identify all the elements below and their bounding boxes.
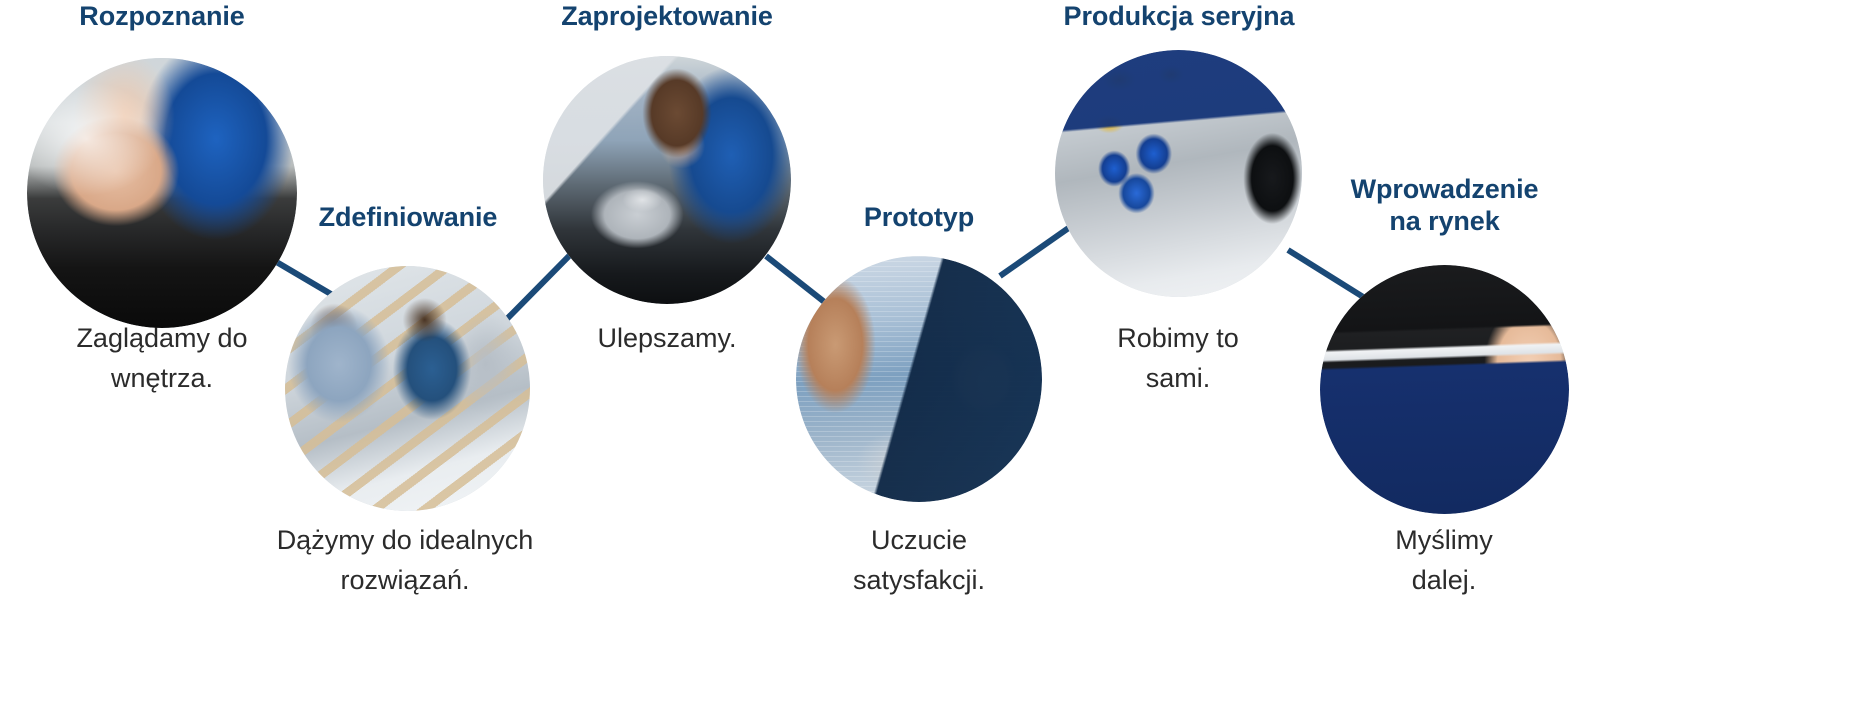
photo-team-discussing-plans [285, 266, 530, 511]
stage-caption-prototyp: Uczucie satysfakcji. [769, 520, 1069, 600]
stage-image-zdefiniowanie [285, 266, 530, 511]
stage-heading-prototyp: Prototyp [794, 201, 1044, 233]
photo-hand-applying-hd-sticker [1320, 265, 1569, 514]
photo-mechanic-inspecting-car [27, 58, 297, 328]
stage-heading-produkcja-seryjna: Produkcja seryjna [1034, 0, 1324, 32]
stage-heading-zdefiniowanie: Zdefiniowanie [283, 201, 533, 233]
photo-cad-model-monitor [796, 256, 1042, 502]
stage-image-produkcja-seryjna [1055, 50, 1302, 297]
process-infographic: Rozpoznanie Zaglądamy do wnętrza. Zdefin… [0, 0, 1869, 705]
photo-mechanic-with-laptop [543, 56, 791, 304]
stage-caption-wprowadzenie-na-rynek: Myślimy dalej. [1294, 520, 1594, 600]
stage-caption-zdefiniowanie: Dążymy do idealnych rozwiązań. [255, 520, 555, 600]
stage-image-zaprojektowanie [543, 56, 791, 304]
stage-caption-produkcja-seryjna: Robimy to sami. [1028, 318, 1328, 398]
stage-heading-rozpoznanie: Rozpoznanie [22, 0, 302, 32]
stage-caption-zaprojektowanie: Ulepszamy. [517, 318, 817, 358]
photo-shock-absorbers-line [1055, 50, 1302, 297]
stage-image-prototyp [796, 256, 1042, 502]
stage-heading-wprowadzenie-na-rynek: Wprowadzenie na rynek [1313, 173, 1576, 237]
stage-heading-zaprojektowanie: Zaprojektowanie [527, 0, 807, 32]
stage-caption-rozpoznanie: Zaglądamy do wnętrza. [12, 318, 312, 398]
stage-image-rozpoznanie [27, 58, 297, 328]
stage-image-wprowadzenie-na-rynek [1320, 265, 1569, 514]
